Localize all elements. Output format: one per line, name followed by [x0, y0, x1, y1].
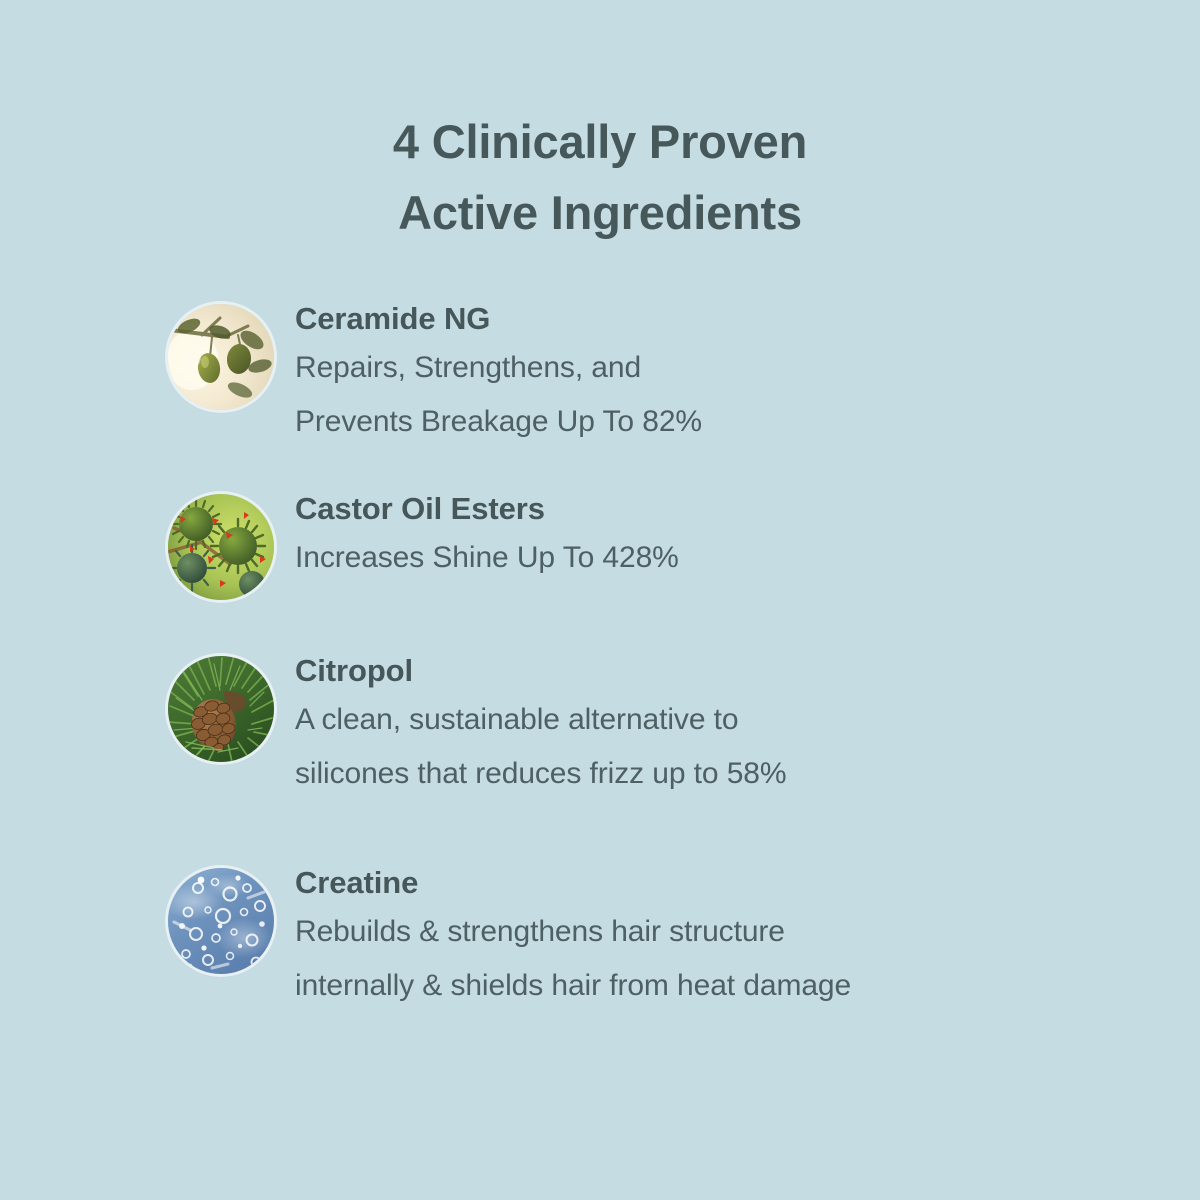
- ingredient-item-castor-oil-esters: Castor Oil Esters Increases Shine Up To …: [0, 487, 1200, 585]
- description-line-2: internally & shields hair from heat dama…: [295, 959, 851, 1013]
- description-line-2: Prevents Breakage Up To 82%: [295, 395, 702, 449]
- ingredient-text-citropol: Citropol A clean, sustainable alternativ…: [295, 649, 786, 801]
- ingredient-list: Ceramide NG Repairs, Strengthens, and Pr…: [0, 297, 1200, 1013]
- olive-branch-photo: [168, 304, 274, 410]
- page-title: 4 Clinically Proven Active Ingredients: [0, 106, 1200, 248]
- ingredient-description: Increases Shine Up To 428%: [295, 531, 679, 585]
- ingredient-description: Rebuilds & strengthens hair structure in…: [295, 905, 851, 1013]
- description-line-1: Increases Shine Up To 428%: [295, 531, 679, 585]
- pine-cone-photo: [168, 656, 274, 762]
- ingredient-name: Creatine: [295, 861, 851, 905]
- description-line-1: Repairs, Strengthens, and: [295, 341, 702, 395]
- ingredient-item-ceramide-ng: Ceramide NG Repairs, Strengthens, and Pr…: [0, 297, 1200, 449]
- ingredient-text-ceramide-ng: Ceramide NG Repairs, Strengthens, and Pr…: [295, 297, 702, 449]
- description-line-1: A clean, sustainable alternative to: [295, 693, 786, 747]
- ingredient-text-creatine: Creatine Rebuilds & strengthens hair str…: [295, 861, 851, 1013]
- ingredient-description: Repairs, Strengthens, and Prevents Break…: [295, 341, 702, 449]
- ingredient-name: Ceramide NG: [295, 297, 702, 341]
- ingredient-item-citropol: Citropol A clean, sustainable alternativ…: [0, 649, 1200, 801]
- ingredients-infographic: 4 Clinically Proven Active Ingredients: [0, 0, 1200, 1200]
- page-title-line-1: 4 Clinically Proven: [0, 106, 1200, 177]
- ingredient-name: Castor Oil Esters: [295, 487, 679, 531]
- description-line-1: Rebuilds & strengthens hair structure: [295, 905, 851, 959]
- ingredient-description: A clean, sustainable alternative to sili…: [295, 693, 786, 801]
- page-title-line-2: Active Ingredients: [0, 177, 1200, 248]
- water-bubbles-photo: [168, 868, 274, 974]
- castor-bean-pods-photo: [168, 494, 274, 600]
- ingredient-item-creatine: Creatine Rebuilds & strengthens hair str…: [0, 861, 1200, 1013]
- ingredient-name: Citropol: [295, 649, 786, 693]
- description-line-2: silicones that reduces frizz up to 58%: [295, 747, 786, 801]
- ingredient-text-castor-oil-esters: Castor Oil Esters Increases Shine Up To …: [295, 487, 679, 585]
